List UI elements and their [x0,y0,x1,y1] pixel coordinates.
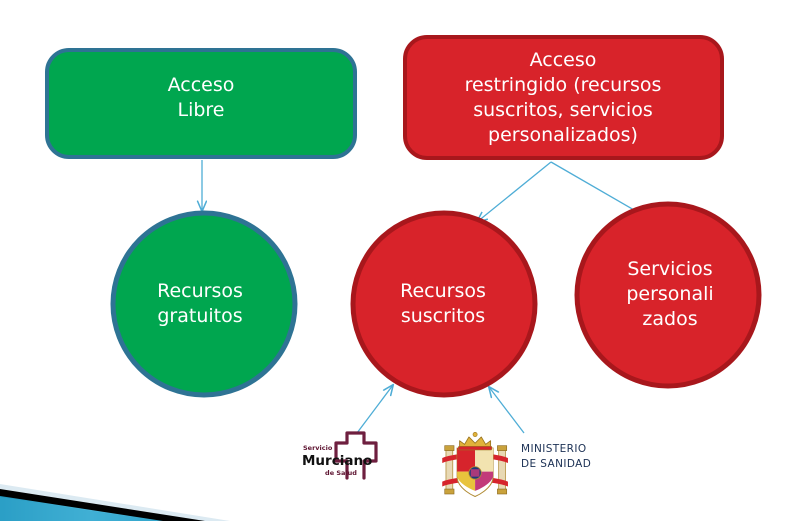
restricted-access-label-line-2: restringido (recursos [465,74,662,96]
ministry-label-line-1: MINISTERIO [521,443,586,455]
restricted-access-label-line-3: suscritos, servicios [473,99,653,121]
arrow-restricted-to-subscribed [477,162,551,222]
node-circle-personalized-services[interactable]: Servicios personali zados [577,204,759,386]
logo-ministerio-de-sanidad[interactable]: MINISTERIO DE SANIDAD [442,432,591,496]
arrow-smsl-logo-to-subscribed [357,385,393,433]
free-resources-label-line-1: Recursos [157,280,243,302]
logo-servicio-murciano-de-salud[interactable]: Servicio Murciano de Salud [302,433,376,478]
node-circle-subscribed-resources[interactable]: Recursos suscritos [353,213,535,395]
free-resources-circle-shape [113,213,295,395]
spain-coat-of-arms-icon [442,432,508,496]
diagram-canvas: Acceso Libre Acceso restringido (recurso… [0,0,801,521]
free-access-label-line-1: Acceso [168,74,235,96]
node-box-restricted-access[interactable]: Acceso restringido (recursos suscritos, … [405,37,722,158]
restricted-access-label-line-1: Acceso [530,49,597,71]
subscribed-resources-label-line-1: Recursos [400,280,486,302]
ministry-label-line-2: DE SANIDAD [521,458,591,470]
personalized-services-label-line-1: Servicios [627,258,712,280]
slide-canvas: Acceso Libre Acceso restringido (recurso… [0,0,801,521]
smsl-line-de-salud: de Salud [325,469,357,477]
node-box-free-access[interactable]: Acceso Libre [47,50,355,157]
arrow-ministry-logo-to-subscribed [489,387,524,433]
free-resources-label-line-2: gratuitos [157,305,242,327]
subscribed-resources-label-line-2: suscritos [401,305,485,327]
personalized-services-label-line-3: zados [642,308,697,330]
personalized-services-label-line-2: personali [626,283,713,305]
restricted-access-label-line-4: personalizados) [488,124,638,146]
smsl-line-servicio: Servicio [303,444,333,452]
slide-corner-stripes [0,484,230,521]
free-access-label-line-2: Libre [177,99,224,121]
subscribed-resources-circle-shape [353,213,535,395]
node-circle-free-resources[interactable]: Recursos gratuitos [113,213,295,395]
smsl-line-murciano: Murciano [302,453,372,469]
